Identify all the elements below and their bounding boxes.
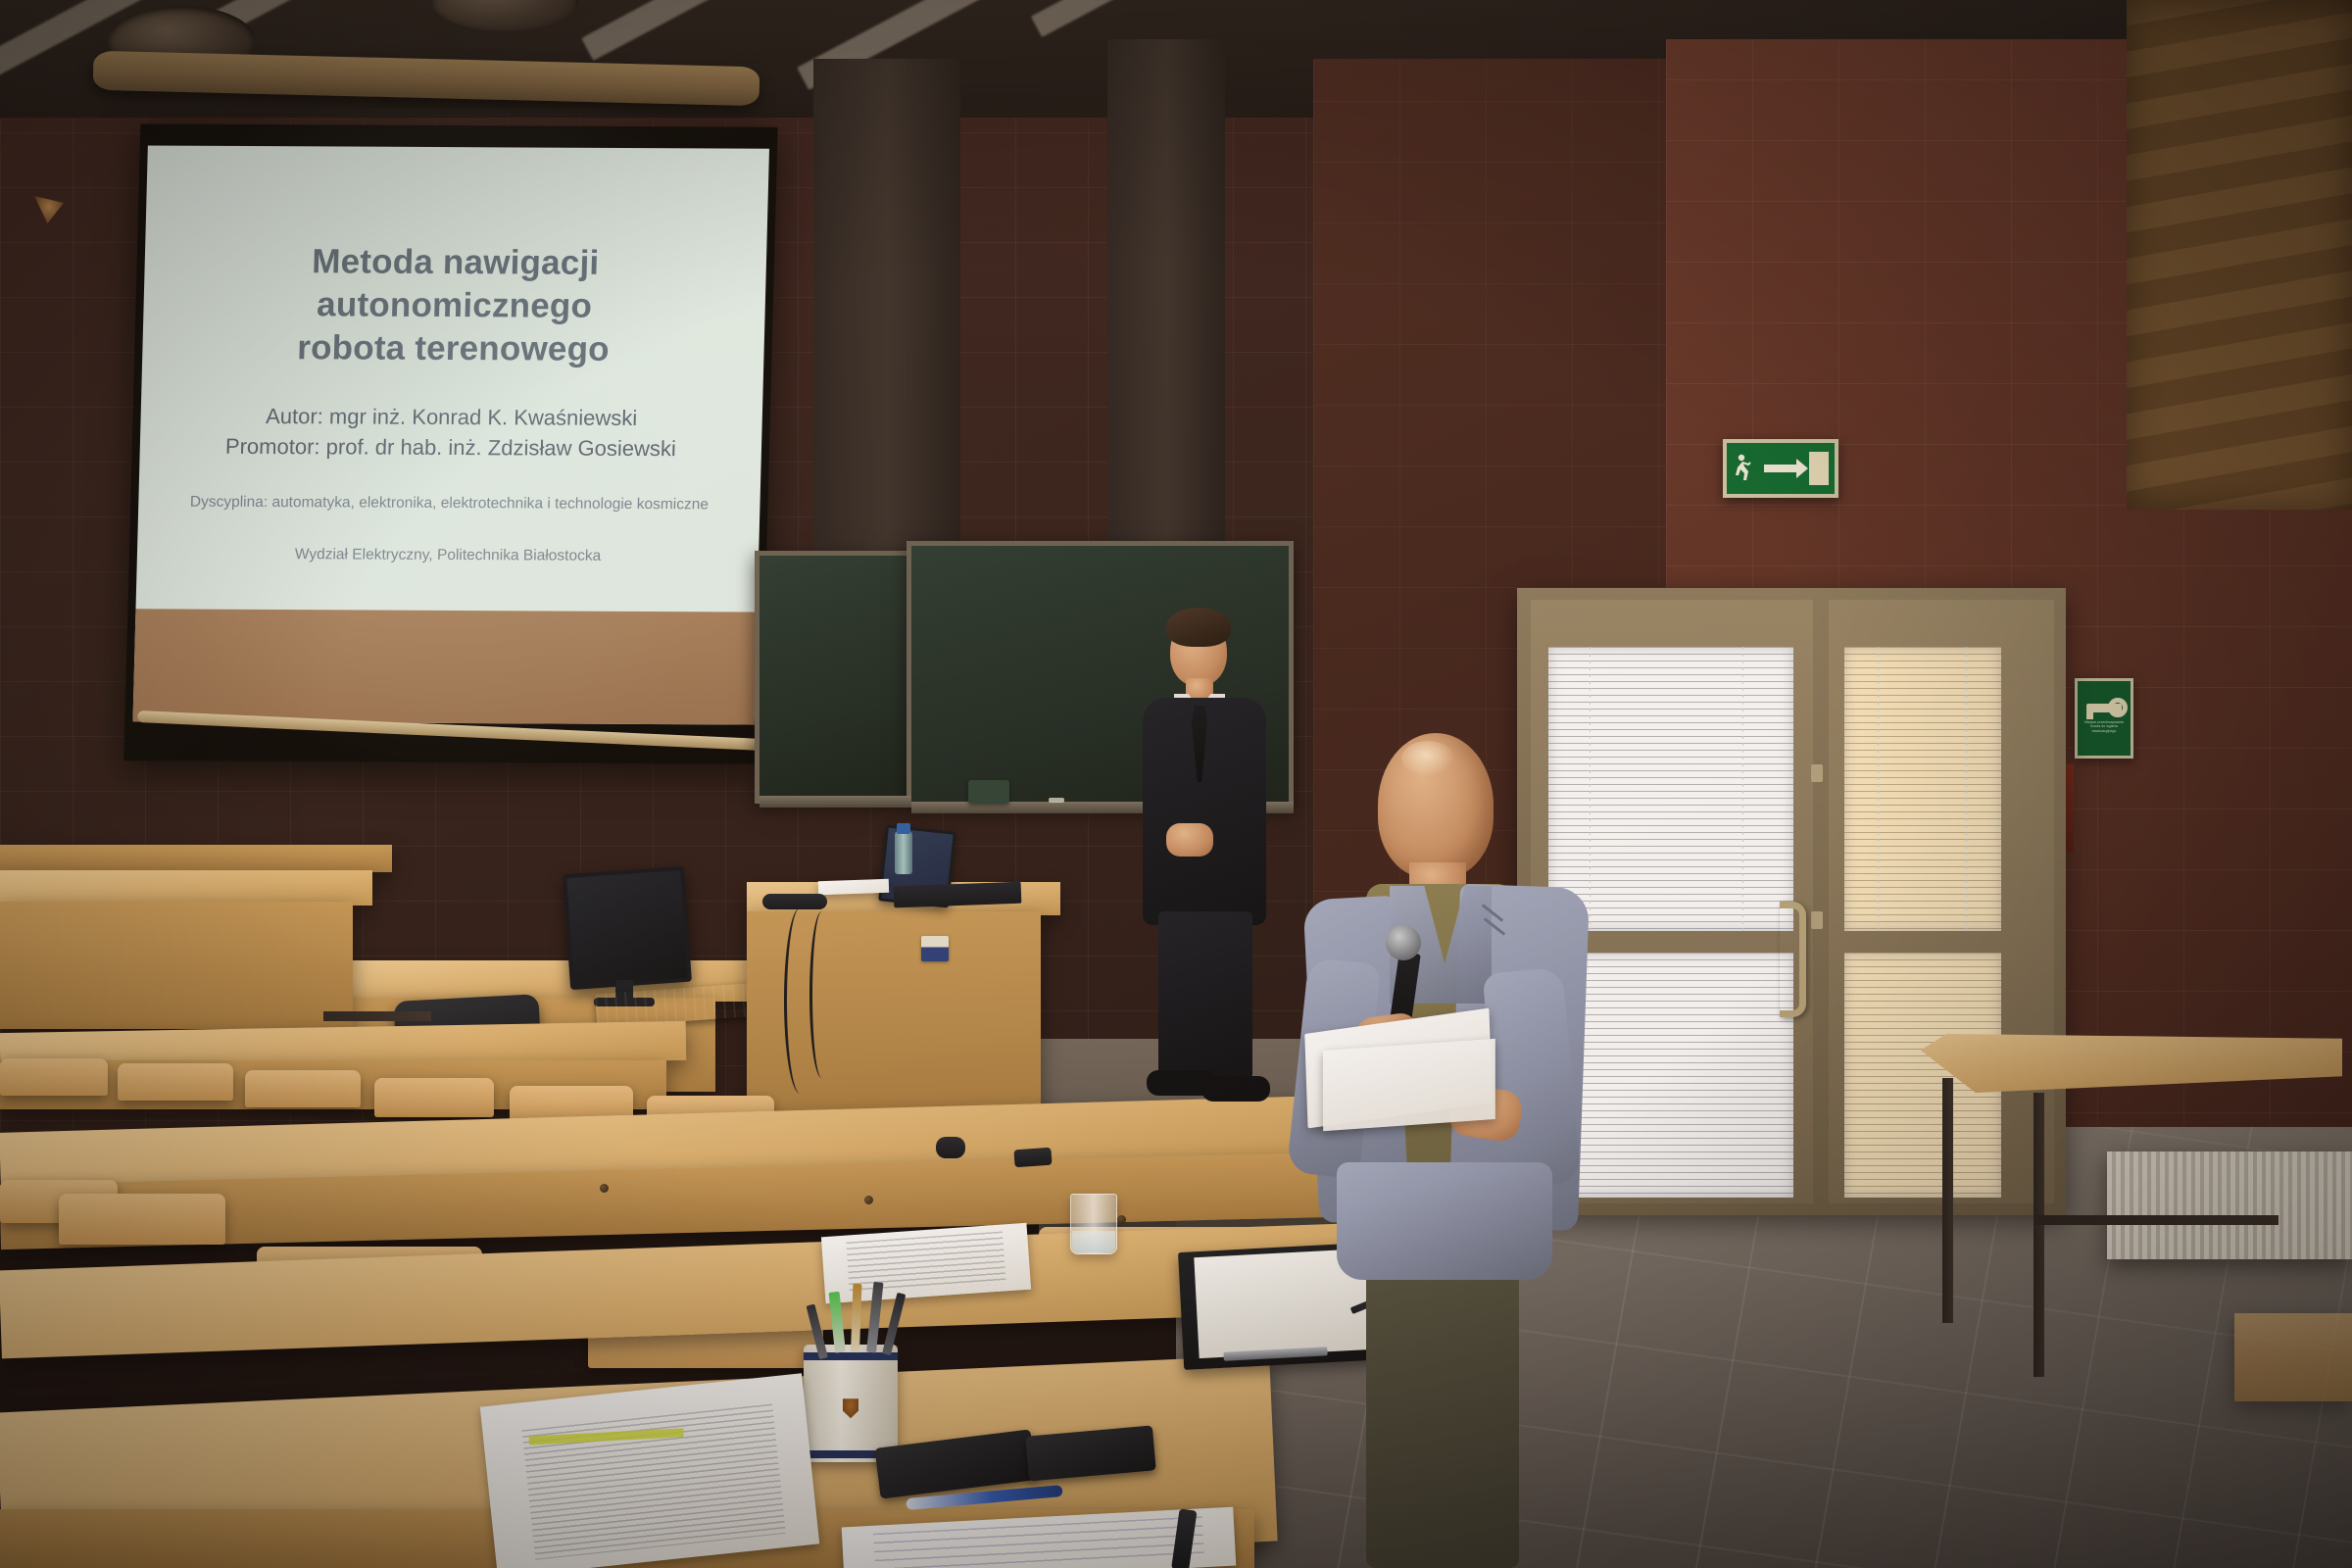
slide-faculty-line: Wydział Elektryczny, Politechnika Białos… bbox=[137, 545, 759, 565]
highlighted-document bbox=[480, 1373, 819, 1568]
attendant-hair bbox=[1166, 608, 1231, 647]
bottle-cap bbox=[897, 823, 910, 834]
table-cross-brace bbox=[2033, 1215, 2278, 1225]
laser-pointer[interactable] bbox=[936, 1137, 965, 1158]
key-sign-label: Miejsce przechowywania klucza do wyjścia… bbox=[2081, 720, 2129, 733]
running-person-icon bbox=[1733, 454, 1752, 483]
slide-author-line: Autor: mgr inż. Konrad K. Kwaśniewski bbox=[160, 400, 743, 433]
board-eraser bbox=[968, 780, 1009, 804]
bench-seat-back[interactable] bbox=[0, 1058, 108, 1096]
blind-cord[interactable] bbox=[1966, 647, 1967, 931]
presenter-papers bbox=[1323, 1039, 1495, 1131]
bench-screw bbox=[864, 1196, 873, 1204]
door-handle[interactable] bbox=[1780, 902, 1806, 1017]
slide-title: Metoda nawigacji autonomicznego robota t… bbox=[142, 239, 767, 372]
baseboard-ledge bbox=[2234, 1313, 2352, 1401]
door-leaf-right[interactable] bbox=[1829, 600, 2054, 1203]
chalk-tray bbox=[759, 796, 911, 808]
chalk-stick bbox=[1049, 798, 1064, 803]
projection-screen: Metoda nawigacji autonomicznego robota t… bbox=[123, 123, 777, 763]
key-icon bbox=[2086, 704, 2122, 712]
recessed-ceiling-light bbox=[431, 0, 578, 31]
slide-title-line2: robota terenowego bbox=[175, 326, 731, 372]
crest-emblem-icon bbox=[843, 1398, 858, 1418]
slide-title-line1: Metoda nawigacji autonomicznego bbox=[176, 240, 733, 329]
attendant-shoes bbox=[1201, 1076, 1270, 1102]
bench-seat-back[interactable] bbox=[245, 1070, 361, 1107]
lecture-hall-photo: Metoda nawigacji autonomicznego robota t… bbox=[0, 0, 2352, 1568]
bench-screw bbox=[600, 1184, 609, 1193]
door-lock-plate bbox=[1811, 764, 1823, 782]
presentation-slide: Metoda nawigacji autonomicznego robota t… bbox=[132, 145, 769, 724]
attendant-hands bbox=[1166, 823, 1213, 857]
door-icon bbox=[1809, 452, 1829, 485]
microphone-head bbox=[1386, 925, 1421, 960]
slide-bottom-band bbox=[132, 609, 757, 724]
table-leg bbox=[1942, 1078, 1953, 1323]
emergency-exit-sign bbox=[1723, 439, 1838, 498]
slide-promoter-line: Promotor: prof. dr hab. inż. Zdzisław Go… bbox=[159, 431, 742, 465]
slide-authors: Autor: mgr inż. Konrad K. Kwaśniewski Pr… bbox=[139, 400, 762, 465]
attendant-trousers bbox=[1158, 911, 1252, 1080]
cable bbox=[809, 911, 834, 1078]
slide-discipline-line: Dyscyplina: automatyka, elektronika, ele… bbox=[138, 493, 760, 514]
door-lock-plate bbox=[1811, 911, 1823, 929]
pencil-in-cup[interactable] bbox=[851, 1284, 861, 1352]
bench-seat-back[interactable] bbox=[374, 1078, 494, 1117]
water-bottle bbox=[895, 831, 912, 874]
blind-cord[interactable] bbox=[1878, 647, 1879, 931]
presenter-blazer-hem bbox=[1337, 1162, 1552, 1280]
presenter-person bbox=[1272, 725, 1625, 1568]
bench-seat-back[interactable] bbox=[59, 1194, 225, 1245]
blind-cord[interactable] bbox=[1742, 647, 1743, 931]
presentation-remote[interactable] bbox=[1013, 1148, 1052, 1168]
radiator bbox=[2107, 1151, 2352, 1259]
water-glass bbox=[1070, 1194, 1117, 1254]
bench-seat-back[interactable] bbox=[118, 1063, 233, 1101]
table-leg bbox=[2033, 1093, 2044, 1377]
wall-pillar bbox=[1107, 39, 1225, 588]
chalkboard-left-panel bbox=[755, 551, 911, 804]
presenter-bald-highlight bbox=[1401, 741, 1454, 776]
desk-sticker bbox=[921, 936, 949, 961]
computer-monitor bbox=[563, 866, 692, 990]
rear-counter-panel bbox=[0, 902, 353, 1029]
bench-screw bbox=[1117, 1215, 1126, 1224]
glass-water bbox=[1072, 1231, 1115, 1252]
wood-wall-panel bbox=[2127, 0, 2352, 510]
desk-mouse[interactable] bbox=[762, 894, 827, 909]
attendant-person bbox=[1117, 596, 1294, 1115]
right-arrow-icon bbox=[1764, 465, 1797, 472]
rear-counter bbox=[0, 870, 372, 906]
paper-sheet bbox=[818, 879, 889, 896]
laptop-keyboard[interactable] bbox=[894, 882, 1022, 908]
window-blinds[interactable] bbox=[1844, 647, 2001, 931]
pen-cup[interactable] bbox=[804, 1345, 898, 1462]
desk-frame bbox=[323, 1011, 431, 1021]
desk-riser bbox=[0, 845, 392, 872]
emergency-key-sign: Miejsce przechowywania klucza do wyjścia… bbox=[2075, 678, 2133, 759]
